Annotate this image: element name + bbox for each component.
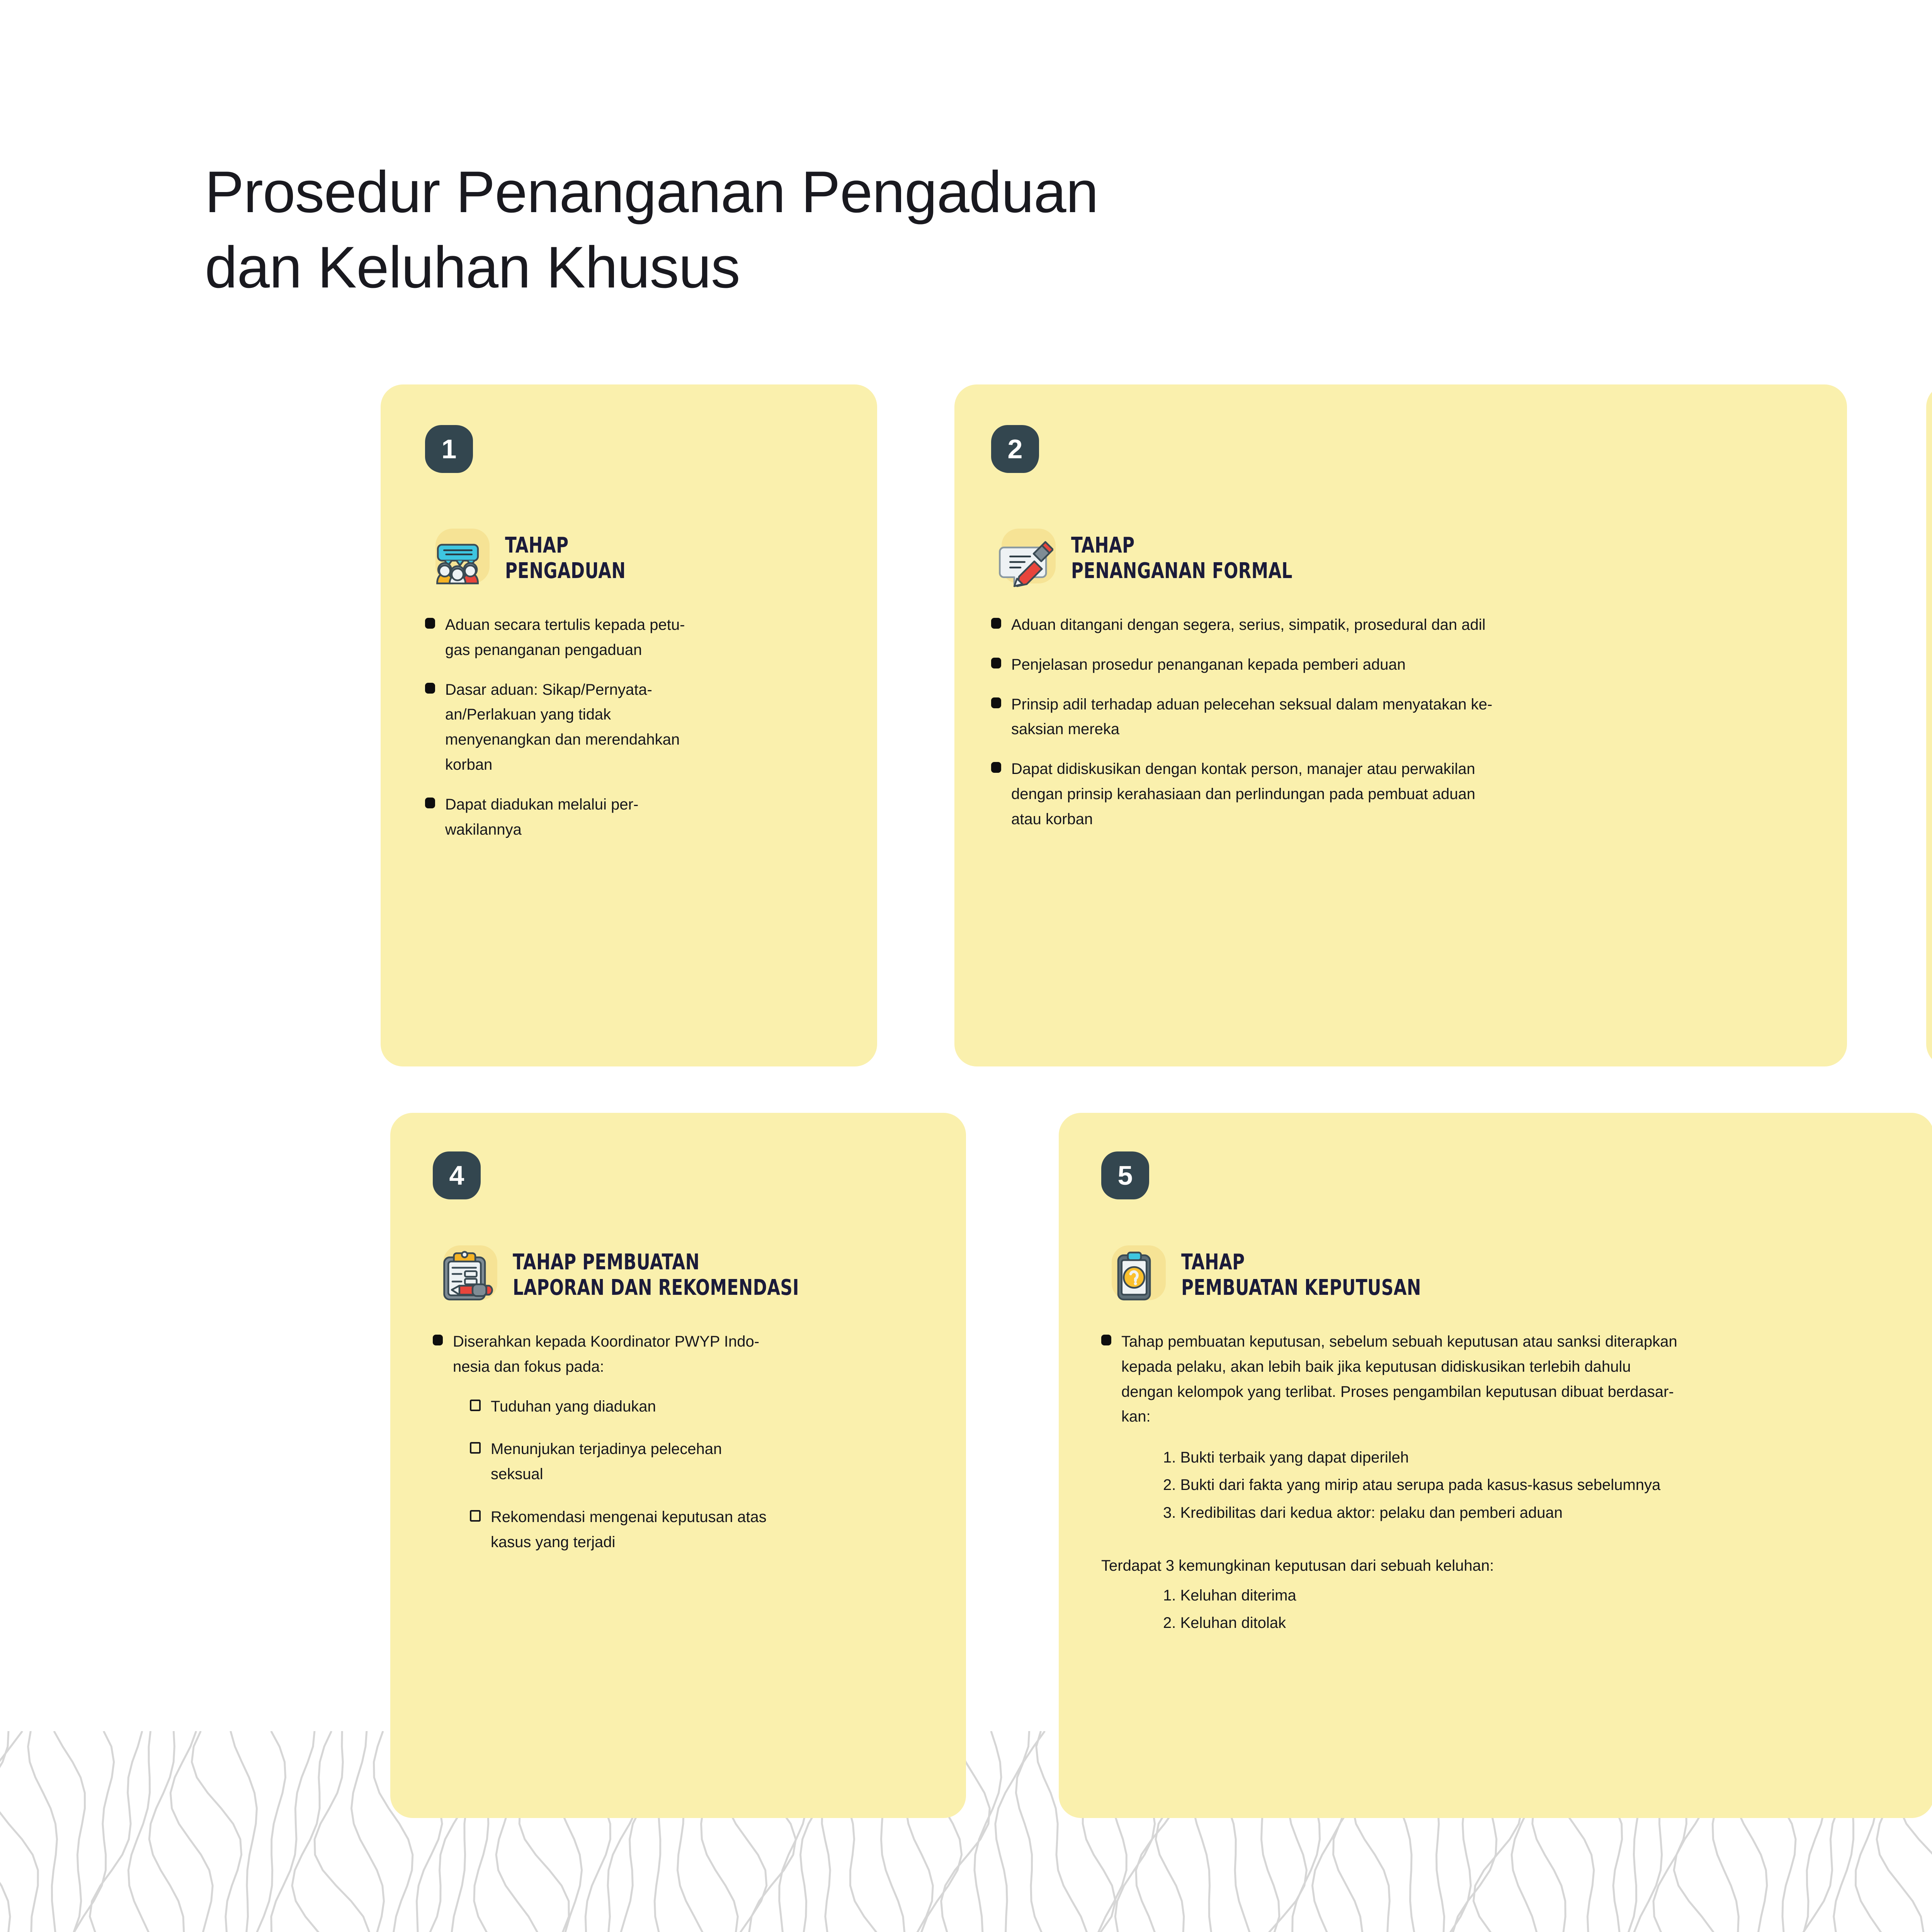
numbered-list-item: 3. Kredibilitas dari kedua aktor: pelaku… [1163,1499,1882,1527]
step-card-5: 5 TAHAPPEMBUATAN KEPUTUSANTahap pembuata… [1059,1113,1932,1818]
sub-bullet-item: Rekomendasi mengenai keputusan ataskasus… [470,1505,923,1555]
stage-title-line-2: LAPORAN DAN REKOMENDASI [513,1275,799,1301]
numbered-list-item: 2. Bukti dari fakta yang mirip atau seru… [1163,1471,1882,1499]
numbered-list-criteria: 1. Bukti terbaik yang dapat diperileh2. … [1163,1444,1882,1527]
square-bullet-icon [425,618,435,629]
bullet-text: Prinsip adil terhadap aduan pelecehan se… [1011,692,1492,742]
bullet-item: Diserahkan kepada Koordinator PWYP Indo-… [433,1329,923,1379]
bullet-item: Tahap pembuatan keputusan, sebelum sebua… [1101,1329,1882,1429]
clipboard-pen-icon [435,1242,500,1308]
numbered-list-item: 1. Keluhan diterima [1163,1582,1882,1609]
stage-title-line-1: TAHAP [1181,1250,1421,1275]
bullet-text: Diserahkan kepada Koordinator PWYP Indo-… [453,1329,759,1379]
people-speech-bubble-icon [427,526,493,591]
stage-title: TAHAPPENGADUAN [505,533,626,583]
square-bullet-icon [425,798,435,808]
bullet-text: Aduan ditangani dengan segera, serius, s… [1011,612,1485,638]
square-bullet-icon [991,697,1001,708]
bullet-text: Rekomendasi mengenai keputusan ataskasus… [491,1505,767,1555]
card-heading: TAHAPPENANGANAN FORMAL [993,526,1355,591]
hollow-square-bullet-icon [470,1510,481,1522]
bullet-list: Tahap pembuatan keputusan, sebelum sebua… [1101,1329,1882,1637]
hollow-square-bullet-icon [470,1400,481,1411]
clipboard-question-icon [1103,1242,1169,1308]
note-pen-icon [993,526,1059,591]
bullet-item: Dasar aduan: Sikap/Pernyata-an/Perlakuan… [425,677,804,777]
bullet-item: Dapat diadukan melalui per-wakilannya [425,792,804,842]
stage-title: TAHAPPEMBUATAN KEPUTUSAN [1181,1250,1421,1300]
step-number-badge: 2 [991,425,1039,473]
square-bullet-icon [425,683,435,694]
square-bullet-icon [991,762,1001,773]
numbered-list-outcomes: 1. Keluhan diterima2. Keluhan ditolak [1163,1582,1882,1637]
bullet-list: Diserahkan kepada Koordinator PWYP Indo-… [433,1329,923,1573]
stage-title-line-1: TAHAP [505,533,626,558]
bullet-text: Dapat diadukan melalui per-wakilannya [445,792,638,842]
stage-title-line-2: PENANGANAN FORMAL [1071,558,1293,584]
bullet-item: Dapat didiskusikan dengan kontak person,… [991,757,1783,832]
square-bullet-icon [1101,1335,1111,1345]
sub-bullet-item: Tuduhan yang diadukan [470,1394,923,1419]
step-card-2: 2 TAHAPPENANGANAN FORMALAduan ditangani … [954,384,1847,1066]
page-title-line-2: dan Keluhan Khusus [205,230,1098,305]
bullet-list: Aduan secara tertulis kepada petu-gas pe… [425,612,804,857]
sub-bullet-item: Menunjukan terjadinya pelecehanseksual [470,1437,923,1487]
bullet-item: Prinsip adil terhadap aduan pelecehan se… [991,692,1783,742]
step-number-badge: 1 [425,425,473,473]
step-number-badge: 4 [433,1151,481,1199]
stage-title-line-2: PENGADUAN [505,558,626,584]
bullet-list: Aduan ditangani dengan segera, serius, s… [991,612,1783,847]
bullet-item: Penjelasan prosedur penanganan kepada pe… [991,652,1783,677]
bullet-text: Menunjukan terjadinya pelecehanseksual [491,1437,722,1487]
step-card-3: 3 TAHAPPENYELEDIKAN ADUANPenyelidik adua… [1926,384,1932,1066]
bullet-text: Penjelasan prosedur penanganan kepada pe… [1011,652,1406,677]
square-bullet-icon [433,1335,443,1345]
card-heading: TAHAP PEMBUATANLAPORAN DAN REKOMENDASI [435,1242,880,1308]
bullet-item: Aduan secara tertulis kepada petu-gas pe… [425,612,804,663]
step-number-badge: 5 [1101,1151,1149,1199]
stage-title-line-1: TAHAP [1071,533,1293,558]
sub-bullet-list: Tuduhan yang diadukanMenunjukan terjadin… [470,1394,923,1555]
card-heading: TAHAPPENGADUAN [427,526,660,591]
hollow-square-bullet-icon [470,1442,481,1454]
bullet-text: Dasar aduan: Sikap/Pernyata-an/Perlakuan… [445,677,680,777]
bullet-text: Tuduhan yang diadukan [491,1394,656,1419]
paragraph-text: Terdapat 3 kemungkinan keputusan dari se… [1101,1552,1882,1580]
numbered-list-item: 2. Keluhan ditolak [1163,1609,1882,1637]
square-bullet-icon [991,618,1001,629]
page-title: Prosedur Penanganan Pengaduan dan Keluha… [205,155,1098,305]
stage-title-line-2: PEMBUATAN KEPUTUSAN [1181,1275,1421,1301]
card-heading: TAHAPPEMBUATAN KEPUTUSAN [1103,1242,1489,1308]
step-card-1: 1 TAHAPPENGADUANAduan secara tertulis ke… [381,384,877,1066]
stage-title-line-1: TAHAP PEMBUATAN [513,1250,799,1275]
bullet-text: Tahap pembuatan keputusan, sebelum sebua… [1121,1329,1677,1429]
page-header: Prosedur Penanganan Pengaduan dan Keluha… [0,0,1932,348]
bullet-text: Aduan secara tertulis kepada petu-gas pe… [445,612,685,663]
bullet-item: Aduan ditangani dengan segera, serius, s… [991,612,1783,638]
stage-title: TAHAP PEMBUATANLAPORAN DAN REKOMENDASI [513,1250,799,1300]
page-title-line-1: Prosedur Penanganan Pengaduan [205,155,1098,230]
stage-title: TAHAPPENANGANAN FORMAL [1071,533,1293,583]
square-bullet-icon [991,658,1001,668]
numbered-list-item: 1. Bukti terbaik yang dapat diperileh [1163,1444,1882,1471]
step-card-4: 4 TAHAP PEMBUATANLAPORAN DAN REKOMENDASI… [390,1113,966,1818]
bullet-text: Dapat didiskusikan dengan kontak person,… [1011,757,1475,832]
